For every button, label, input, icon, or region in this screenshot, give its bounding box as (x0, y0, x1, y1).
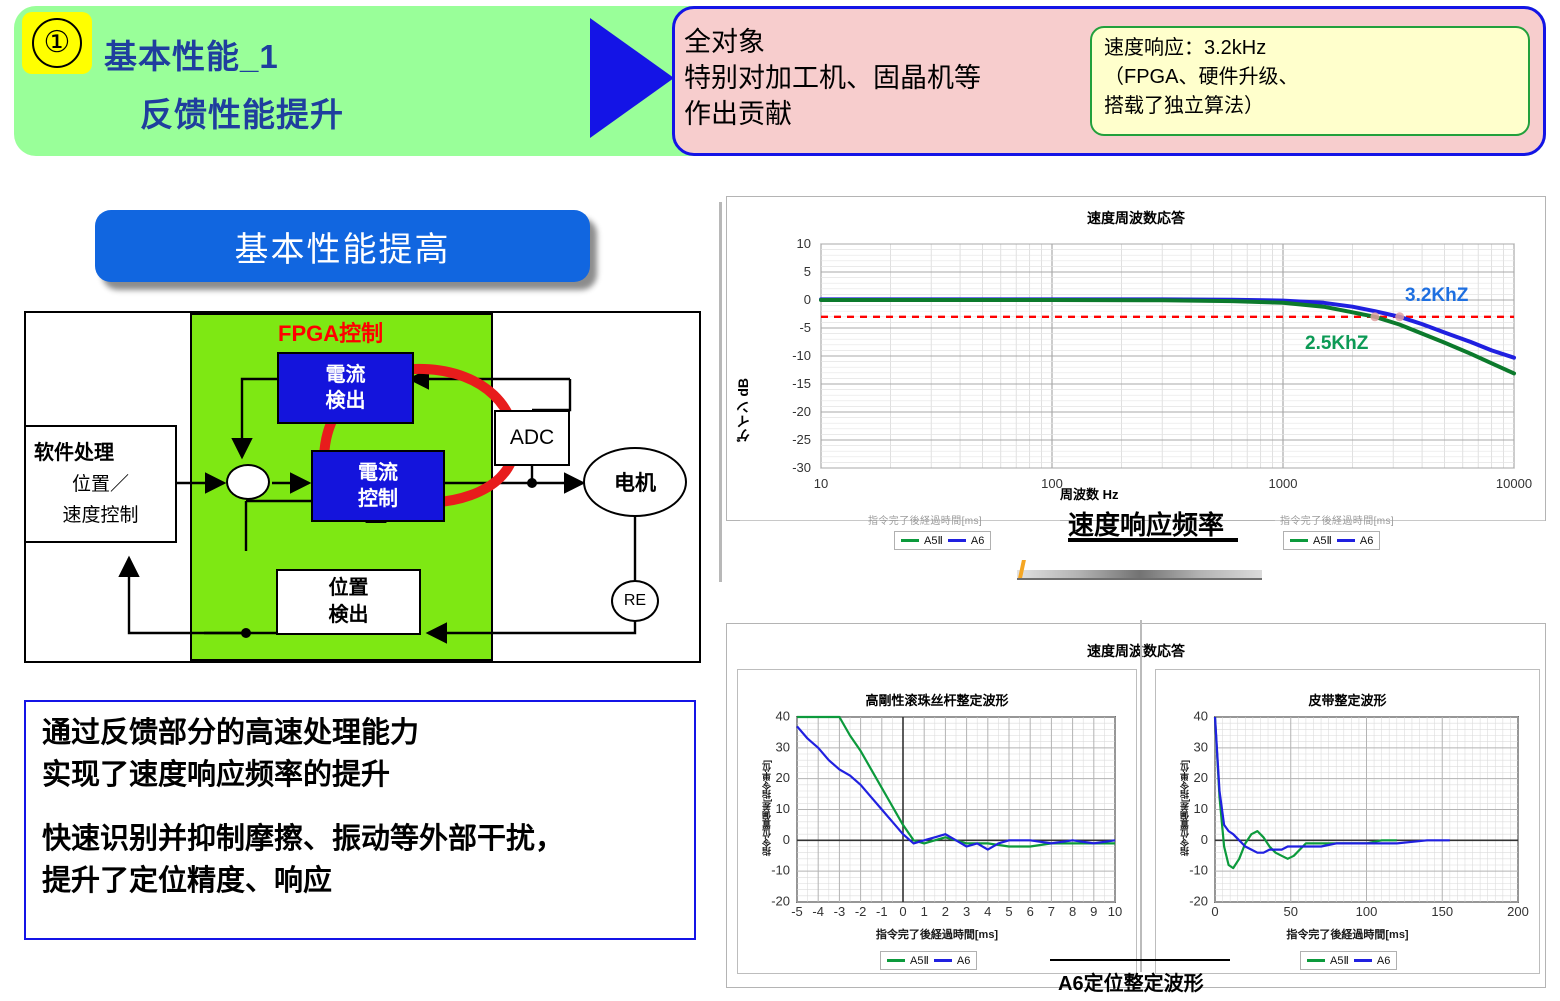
svg-text:-25: -25 (792, 432, 811, 447)
svg-text:-10: -10 (771, 863, 790, 878)
legend-swatch-a6 (934, 959, 952, 962)
legend-label-a6: A6 (971, 535, 984, 547)
performance-pill-label: 基本性能提高 (235, 222, 451, 271)
svg-text:150: 150 (1431, 904, 1453, 919)
legend-swatch-a5 (1307, 959, 1325, 962)
svg-text:-30: -30 (792, 460, 811, 475)
svg-text:0: 0 (1201, 832, 1208, 847)
legend-belt: A5Ⅱ A6 (1300, 951, 1397, 970)
bode-annotation-a6: 3.2KhZ (1405, 285, 1468, 307)
svg-text:-5: -5 (799, 320, 811, 335)
position-detect-line1: 位置 (329, 575, 369, 602)
software-processing-block: 软件处理 位置／ 速度控制 (24, 425, 177, 543)
conclusion-line-2: 实现了速度响应频率的提升 (42, 754, 692, 796)
svg-text:30: 30 (776, 739, 790, 754)
svg-text:0: 0 (1211, 904, 1218, 919)
performance-pill: 基本性能提高 (95, 210, 590, 282)
svg-text:1: 1 (921, 904, 928, 919)
legend-label-a5: A5Ⅱ (910, 954, 929, 967)
legend-label-a6: A6 (1377, 955, 1390, 967)
speed-response-underline (1068, 538, 1238, 542)
position-detect-block: 位置 検出 (276, 569, 421, 635)
conclusion-line-3: 快速识别并抑制摩擦、振动等外部干扰， (42, 818, 692, 860)
summing-junction-node (226, 464, 270, 500)
svg-text:-10: -10 (1189, 863, 1208, 878)
svg-text:1000: 1000 (1269, 476, 1298, 491)
svg-text:3: 3 (963, 904, 970, 919)
svg-text:50: 50 (1284, 904, 1298, 919)
legend-swatch-a6 (1337, 539, 1355, 542)
svg-text:8: 8 (1069, 904, 1076, 919)
svg-text:20: 20 (1194, 770, 1208, 785)
step-number: ① (32, 18, 82, 68)
svg-text:100: 100 (1356, 904, 1378, 919)
bode-panel-rail (719, 202, 722, 582)
svg-text:40: 40 (776, 709, 790, 724)
a6-caption-rule (1050, 959, 1230, 961)
software-line1: 位置／ (72, 469, 129, 500)
svg-text:-10: -10 (792, 348, 811, 363)
conclusion-line-1: 通过反馈部分的高速处理能力 (42, 712, 692, 754)
bode-annotation-a5: 2.5KhZ (1305, 333, 1368, 355)
svg-text:10: 10 (1108, 904, 1122, 919)
legend-ballscrew: A5Ⅱ A6 (880, 951, 977, 970)
belt-chart-plot: 050100150200403020100-10-20 (1155, 669, 1540, 974)
svg-text:40: 40 (1194, 709, 1208, 724)
a6-caption: A6定位整定波形 (1058, 967, 1204, 996)
svg-text:0: 0 (783, 832, 790, 847)
legend-label-a5: A5Ⅱ (924, 534, 943, 547)
svg-text:20: 20 (776, 770, 790, 785)
svg-text:-4: -4 (812, 904, 824, 919)
legend-label-a5: A5Ⅱ (1313, 534, 1332, 547)
svg-text:-15: -15 (792, 376, 811, 391)
speed-response-caption: 速度响应频率 (1068, 505, 1224, 542)
svg-text:4: 4 (984, 904, 991, 919)
page-subtitle: 反馈性能提升 (140, 88, 344, 136)
legend-bode-right: A5Ⅱ A6 (1283, 531, 1380, 550)
svg-text:-20: -20 (1189, 894, 1208, 909)
svg-text:-20: -20 (771, 894, 790, 909)
right-triangle-arrow-icon (590, 18, 674, 138)
target-text: 全对象 特别对加工机、固晶机等 作出贡献 (684, 24, 1064, 132)
svg-text:6: 6 (1027, 904, 1034, 919)
page-title: 基本性能_1 (104, 30, 279, 78)
svg-text:10: 10 (776, 801, 790, 816)
current-detect-line2: 検出 (326, 388, 366, 414)
svg-text:0: 0 (804, 292, 811, 307)
legend-swatch-a6 (1354, 959, 1372, 962)
legend-swatch-a6 (948, 539, 966, 542)
conclusion-text: 通过反馈部分的高速处理能力 实现了速度响应频率的提升 快速识别并抑制摩擦、振动等… (42, 712, 692, 902)
thumbnail-strip-rule (1017, 578, 1262, 580)
svg-text:10000: 10000 (1496, 476, 1532, 491)
encoder-node: RE (611, 580, 659, 622)
current-control-line2: 控制 (358, 486, 398, 512)
svg-text:-1: -1 (876, 904, 888, 919)
svg-text:5: 5 (804, 264, 811, 279)
svg-text:-20: -20 (792, 404, 811, 419)
current-detect-line1: 電流 (326, 362, 366, 388)
adc-block: ADC (494, 410, 570, 466)
svg-text:100: 100 (1041, 476, 1063, 491)
ghost-x-label-left: 指令完了後経過時間[ms] (868, 512, 982, 527)
svg-text:10: 10 (814, 476, 828, 491)
legend-label-a5: A5Ⅱ (1330, 954, 1349, 967)
svg-text:-2: -2 (855, 904, 867, 919)
software-line2: 速度控制 (62, 500, 138, 531)
svg-text:-5: -5 (791, 904, 803, 919)
svg-text:-3: -3 (834, 904, 846, 919)
legend-swatch-a5 (901, 539, 919, 542)
motor-node: 电机 (583, 447, 687, 517)
conclusion-line-4: 提升了定位精度、响应 (42, 860, 692, 902)
panel-divider (1140, 620, 1142, 972)
svg-text:0: 0 (899, 904, 906, 919)
svg-text:5: 5 (1005, 904, 1012, 919)
legend-swatch-a5 (1290, 539, 1308, 542)
ballscrew-chart-plot: -5-4-3-2-1012345678910403020100-10-20 (737, 669, 1137, 974)
legend-bode-left: A5Ⅱ A6 (894, 531, 991, 550)
svg-text:2: 2 (942, 904, 949, 919)
svg-text:10: 10 (1194, 801, 1208, 816)
svg-text:7: 7 (1048, 904, 1055, 919)
svg-text:9: 9 (1090, 904, 1097, 919)
legend-swatch-a5 (887, 959, 905, 962)
current-control-line1: 電流 (358, 460, 398, 486)
legend-label-a6: A6 (1360, 535, 1373, 547)
legend-label-a6: A6 (957, 955, 970, 967)
current-control-block: 電流 控制 (311, 450, 445, 522)
ghost-x-label-right: 指令完了後経過時間[ms] (1280, 512, 1394, 527)
bode-chart-plot: 101001000100001050-5-10-15-20-25-30 (726, 196, 1546, 521)
header-number-badge: ① (22, 12, 92, 74)
position-detect-line2: 検出 (329, 602, 369, 629)
svg-text:10: 10 (797, 236, 811, 251)
waveform-panel-title: 速度周波数応答 (726, 641, 1546, 661)
software-title: 软件处理 (34, 438, 114, 469)
spec-text: 速度响应：3.2kHz （FPGA、硬件升级、 搭载了独立算法） (1104, 34, 1524, 121)
thumbnail-strip-artifact (1017, 570, 1262, 578)
svg-text:30: 30 (1194, 739, 1208, 754)
current-detect-block: 電流 検出 (277, 352, 414, 424)
svg-text:200: 200 (1507, 904, 1529, 919)
